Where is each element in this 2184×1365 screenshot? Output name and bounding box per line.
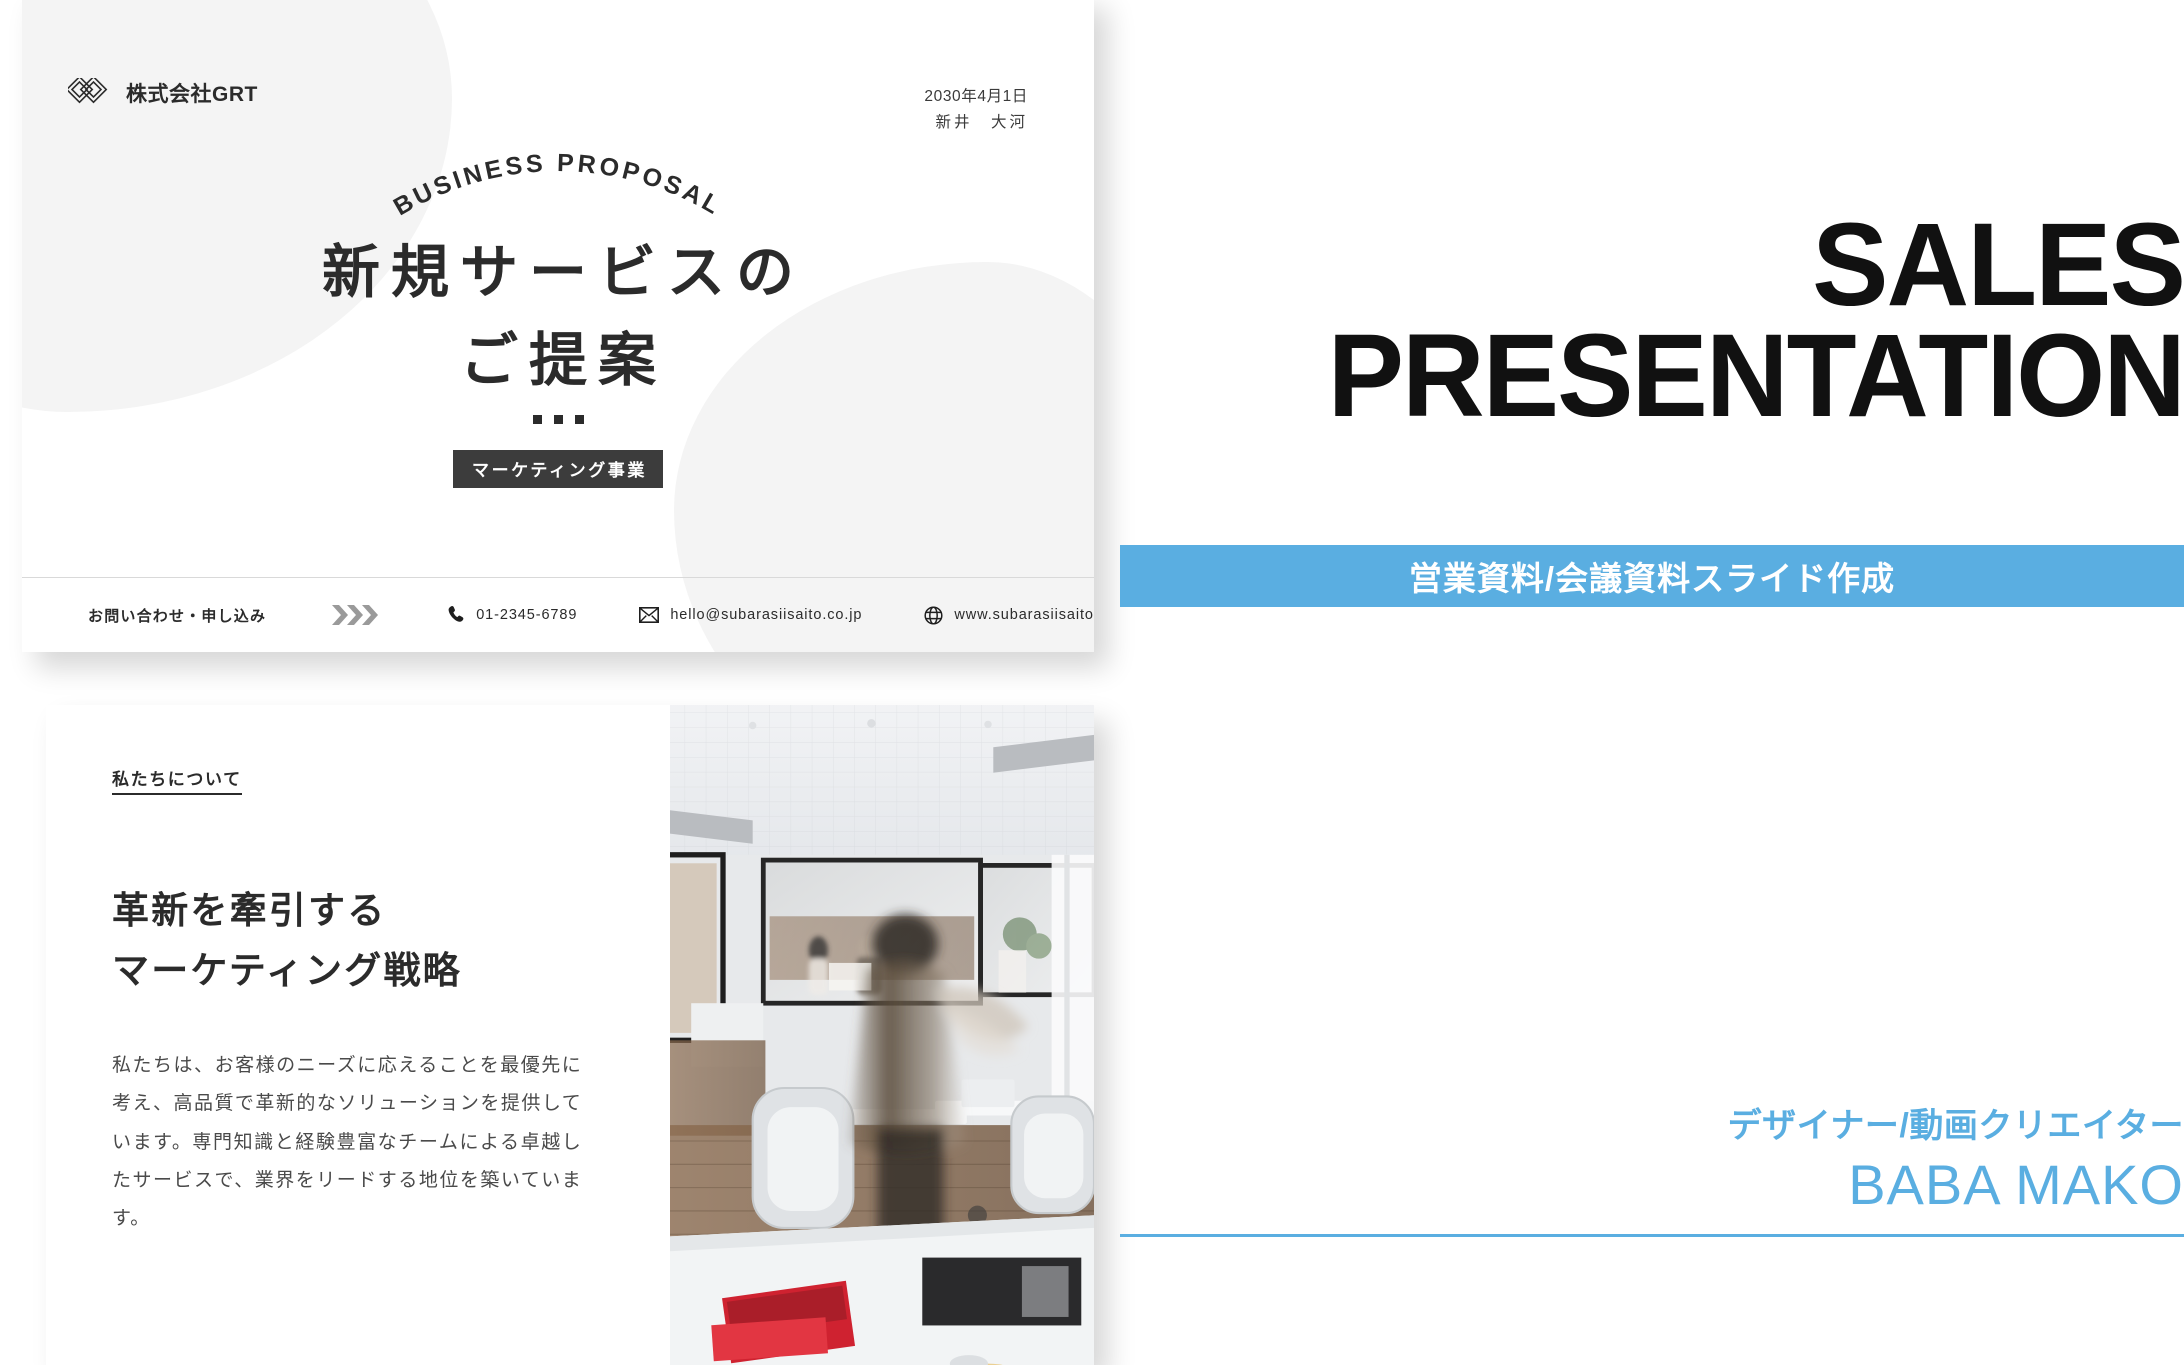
about-eyebrow: 私たちについて [112,765,242,795]
creator-credit: デザイナー/動画クリエイター BABA MAKO [1120,1104,2184,1237]
office-photo-illustration [670,705,1094,1365]
creator-role: デザイナー/動画クリエイター [1120,1104,2184,1148]
cover-header: 株式会社GRT 2030年4月1日 新井 大河 [22,0,1094,132]
contact-web[interactable]: www.subarasiisaito.co.jp [924,606,1094,625]
brand-name: 株式会社GRT [126,78,258,108]
arc-label-text: BUSINESS PROPOSAL [389,149,727,221]
creator-underline [1120,1234,2184,1237]
brand-lockup: 株式会社GRT [68,78,258,108]
cover-author: 新井 大河 [924,110,1028,136]
three-dots-ornament [22,415,1094,424]
envelope-icon [639,607,659,623]
cover-meta: 2030年4月1日 新井 大河 [924,84,1028,135]
cover-date: 2030年4月1日 [924,84,1028,110]
cover-badge: マーケティング事業 [453,450,663,488]
about-heading-line-1: 革新を牽引する [112,881,602,941]
contact-web-text: www.subarasiisaito.co.jp [954,607,1094,623]
promo-headline: SALES PRESENTATION [1152,210,2184,432]
slide-thumbnail-stack: 株式会社GRT 2030年4月1日 新井 大河 BUSINESS PROPOSA… [0,0,1120,1365]
promo-headline-line-2: PRESENTATION [1152,321,2184,432]
cover-footer: お問い合わせ・申し込み 01-2345-6789 [22,578,1094,652]
cover-title-line-1: 新規サービスの [22,232,1094,314]
about-heading-line-2: マーケティング戦略 [112,941,602,1001]
creator-name: BABA MAKO [1120,1150,2184,1220]
contact-email[interactable]: hello@subarasiisaito.co.jp [639,607,862,623]
about-text-column: 私たちについて 革新を牽引する マーケティング戦略 私たちは、お客様のニーズに応… [46,705,658,1365]
double-diamond-logo-icon [68,78,112,108]
promo-subtitle-text: 営業資料/会議資料スライド作成 [1409,552,1895,600]
triple-chevron-right-icon [332,604,386,626]
promo-subtitle-banner: 営業資料/会議資料スライド作成 [1120,545,2184,607]
svg-text:BUSINESS PROPOSAL: BUSINESS PROPOSAL [389,149,727,221]
about-office-photo [670,705,1094,1365]
cover-slide[interactable]: 株式会社GRT 2030年4月1日 新井 大河 BUSINESS PROPOSA… [22,0,1094,652]
cover-center-block: BUSINESS PROPOSAL 新規サービスの ご提案 マーケティング事業 [22,142,1094,488]
globe-icon [924,606,943,625]
phone-icon [448,605,465,625]
arc-label-wrap: BUSINESS PROPOSAL [22,142,1094,226]
promo-panel: SALES PRESENTATION 営業資料/会議資料スライド作成 デザイナー… [1120,0,2184,1365]
contact-email-text: hello@subarasiisaito.co.jp [670,607,862,623]
contact-phone[interactable]: 01-2345-6789 [448,605,577,625]
about-body-text: 私たちは、お客様のニーズに応えることを最優先に考え、高品質で革新的なソリューショ… [112,1047,582,1239]
business-proposal-arc: BUSINESS PROPOSAL [22,142,1094,226]
contact-label: お問い合わせ・申し込み [88,605,266,626]
about-slide[interactable]: 私たちについて 革新を牽引する マーケティング戦略 私たちは、お客様のニーズに応… [46,705,1094,1365]
cover-title-line-2: ご提案 [22,320,1094,402]
contact-phone-text: 01-2345-6789 [476,607,577,623]
